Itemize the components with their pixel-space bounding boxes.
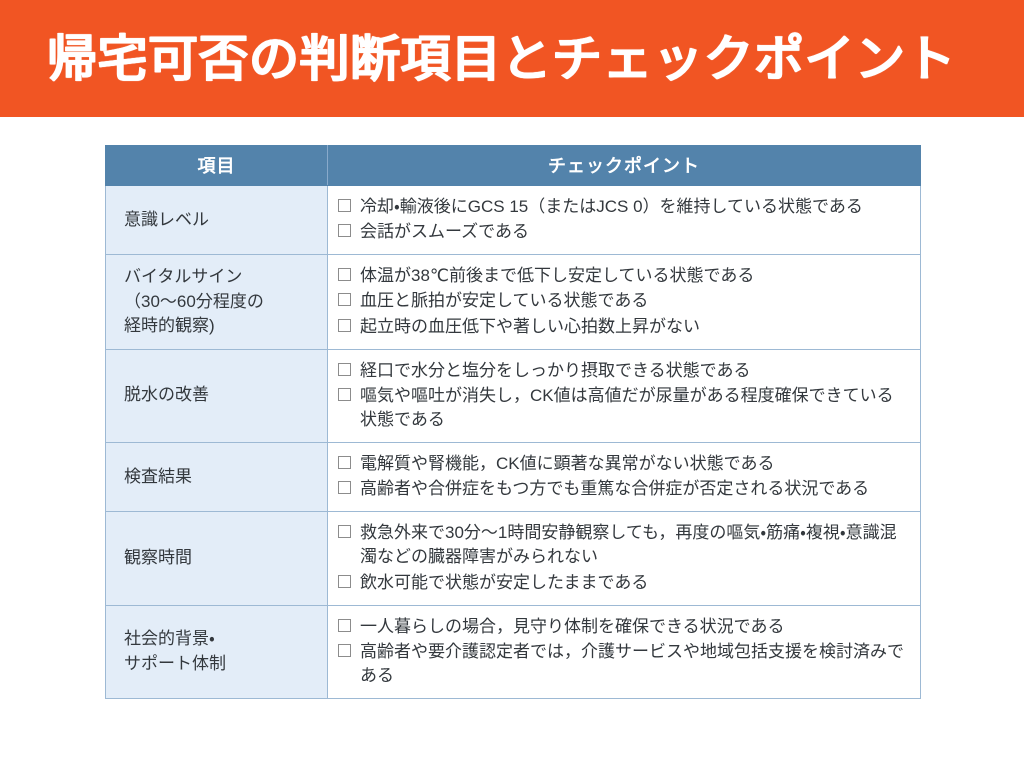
checkbox-empty-icon[interactable] <box>338 224 351 237</box>
table-row: 脱水の改善経口で水分と塩分をしっかり摂取できる状態である嘔気や嘔吐が消失し，CK… <box>106 349 921 442</box>
page-title: 帰宅可否の判断項目とチェックポイント <box>47 34 956 84</box>
checkpoint-list-item[interactable]: 高齢者や要介護認定者では，介護サービスや地域包括支援を検討済みである <box>336 640 910 688</box>
row-item-label: バイタルサイン （30〜60分程度の 経時的観察) <box>106 255 328 349</box>
checkbox-empty-icon[interactable] <box>338 199 351 212</box>
checkbox-empty-icon[interactable] <box>338 644 351 657</box>
row-item-label: 社会的背景・ サポート体制 <box>106 605 328 698</box>
row-checkpoints-cell: 冷却・輸液後にGCS 15（またはJCS 0）を維持している状態である会話がスム… <box>328 186 921 255</box>
checkpoint-list-item[interactable]: 電解質や腎機能，CK値に顕著な異常がない状態である <box>336 452 910 476</box>
table-row: 社会的背景・ サポート体制一人暮らしの場合，見守り体制を確保できる状況である高齢… <box>106 605 921 698</box>
column-header-item: 項目 <box>106 146 328 186</box>
checkpoint-list-item[interactable]: 高齢者や合併症をもつ方でも重篤な合併症が否定される状況である <box>336 477 910 501</box>
checkpoint-list: 体温が38℃前後まで低下し安定している状態である血圧と脈拍が安定している状態であ… <box>336 264 910 338</box>
checkpoint-list: 電解質や腎機能，CK値に顕著な異常がない状態である高齢者や合併症をもつ方でも重篤… <box>336 452 910 501</box>
checkpoint-list-item[interactable]: 嘔気や嘔吐が消失し，CK値は高値だが尿量がある程度確保できている状態である <box>336 384 910 432</box>
checkpoint-list-item[interactable]: 経口で水分と塩分をしっかり摂取できる状態である <box>336 359 910 383</box>
page-banner: 帰宅可否の判断項目とチェックポイント <box>0 0 1024 117</box>
checkpoint-text: 救急外来で30分〜1時間安静観察しても，再度の嘔気・筋痛・複視・意識混濁などの臓… <box>360 523 897 566</box>
checkbox-empty-icon[interactable] <box>338 363 351 376</box>
table-body: 意識レベル冷却・輸液後にGCS 15（またはJCS 0）を維持している状態である… <box>106 186 921 699</box>
checkpoint-list-item[interactable]: 冷却・輸液後にGCS 15（またはJCS 0）を維持している状態である <box>336 195 910 219</box>
checkbox-empty-icon[interactable] <box>338 319 351 332</box>
checkpoint-list-item[interactable]: 一人暮らしの場合，見守り体制を確保できる状況である <box>336 615 910 639</box>
checkpoint-text: 高齢者や合併症をもつ方でも重篤な合併症が否定される状況である <box>360 479 869 498</box>
row-checkpoints-cell: 電解質や腎機能，CK値に顕著な異常がない状態である高齢者や合併症をもつ方でも重篤… <box>328 443 921 512</box>
checkpoint-list-item[interactable]: 救急外来で30分〜1時間安静観察しても，再度の嘔気・筋痛・複視・意識混濁などの臓… <box>336 521 910 569</box>
checkpoint-text: 高齢者や要介護認定者では，介護サービスや地域包括支援を検討済みである <box>360 642 904 685</box>
checkbox-empty-icon[interactable] <box>338 293 351 306</box>
row-item-label: 意識レベル <box>106 186 328 255</box>
checkbox-empty-icon[interactable] <box>338 619 351 632</box>
checkpoint-text: 冷却・輸液後にGCS 15（またはJCS 0）を維持している状態である <box>360 197 863 216</box>
checkpoint-text: 起立時の血圧低下や著しい心拍数上昇がない <box>360 317 700 336</box>
checkpoint-text: 体温が38℃前後まで低下し安定している状態である <box>360 266 754 285</box>
row-checkpoints-cell: 救急外来で30分〜1時間安静観察しても，再度の嘔気・筋痛・複視・意識混濁などの臓… <box>328 512 921 605</box>
checkbox-empty-icon[interactable] <box>338 575 351 588</box>
checkbox-empty-icon[interactable] <box>338 268 351 281</box>
checkbox-empty-icon[interactable] <box>338 456 351 469</box>
checkpoint-list-item[interactable]: 体温が38℃前後まで低下し安定している状態である <box>336 264 910 288</box>
checkbox-empty-icon[interactable] <box>338 481 351 494</box>
checkpoint-text: 嘔気や嘔吐が消失し，CK値は高値だが尿量がある程度確保できている状態である <box>360 386 894 429</box>
checkbox-empty-icon[interactable] <box>338 388 351 401</box>
table-header: 項目 チェックポイント <box>106 146 921 186</box>
checkpoint-text: 会話がスムーズである <box>360 222 529 241</box>
checkbox-empty-icon[interactable] <box>338 525 351 538</box>
column-header-checkpoints: チェックポイント <box>328 146 921 186</box>
checkpoint-text: 電解質や腎機能，CK値に顕著な異常がない状態である <box>360 454 774 473</box>
row-checkpoints-cell: 一人暮らしの場合，見守り体制を確保できる状況である高齢者や要介護認定者では，介護… <box>328 605 921 698</box>
checkpoint-list-item[interactable]: 血圧と脈拍が安定している状態である <box>336 289 910 313</box>
row-item-label: 脱水の改善 <box>106 349 328 442</box>
checkpoint-list-item[interactable]: 起立時の血圧低下や著しい心拍数上昇がない <box>336 315 910 339</box>
checklist-table-container: 項目 チェックポイント 意識レベル冷却・輸液後にGCS 15（またはJCS 0）… <box>105 145 920 699</box>
table-row: 検査結果電解質や腎機能，CK値に顕著な異常がない状態である高齢者や合併症をもつ方… <box>106 443 921 512</box>
checkpoint-text: 経口で水分と塩分をしっかり摂取できる状態である <box>360 361 751 380</box>
checklist-table: 項目 チェックポイント 意識レベル冷却・輸液後にGCS 15（またはJCS 0）… <box>105 145 921 699</box>
row-item-label: 観察時間 <box>106 512 328 605</box>
row-checkpoints-cell: 体温が38℃前後まで低下し安定している状態である血圧と脈拍が安定している状態であ… <box>328 255 921 349</box>
row-checkpoints-cell: 経口で水分と塩分をしっかり摂取できる状態である嘔気や嘔吐が消失し，CK値は高値だ… <box>328 349 921 442</box>
checkpoint-list: 救急外来で30分〜1時間安静観察しても，再度の嘔気・筋痛・複視・意識混濁などの臓… <box>336 521 910 594</box>
checkpoint-list-item[interactable]: 会話がスムーズである <box>336 220 910 244</box>
table-header-row: 項目 チェックポイント <box>106 146 921 186</box>
checkpoint-text: 一人暮らしの場合，見守り体制を確保できる状況である <box>360 617 785 636</box>
row-item-label: 検査結果 <box>106 443 328 512</box>
checkpoint-text: 飲水可能で状態が安定したままである <box>360 573 648 592</box>
checkpoint-list: 経口で水分と塩分をしっかり摂取できる状態である嘔気や嘔吐が消失し，CK値は高値だ… <box>336 359 910 432</box>
checkpoint-list-item[interactable]: 飲水可能で状態が安定したままである <box>336 571 910 595</box>
checkpoint-list: 一人暮らしの場合，見守り体制を確保できる状況である高齢者や要介護認定者では，介護… <box>336 615 910 688</box>
checkpoint-text: 血圧と脈拍が安定している状態である <box>360 291 648 310</box>
table-row: バイタルサイン （30〜60分程度の 経時的観察)体温が38℃前後まで低下し安定… <box>106 255 921 349</box>
table-row: 意識レベル冷却・輸液後にGCS 15（またはJCS 0）を維持している状態である… <box>106 186 921 255</box>
table-row: 観察時間救急外来で30分〜1時間安静観察しても，再度の嘔気・筋痛・複視・意識混濁… <box>106 512 921 605</box>
checkpoint-list: 冷却・輸液後にGCS 15（またはJCS 0）を維持している状態である会話がスム… <box>336 195 910 244</box>
